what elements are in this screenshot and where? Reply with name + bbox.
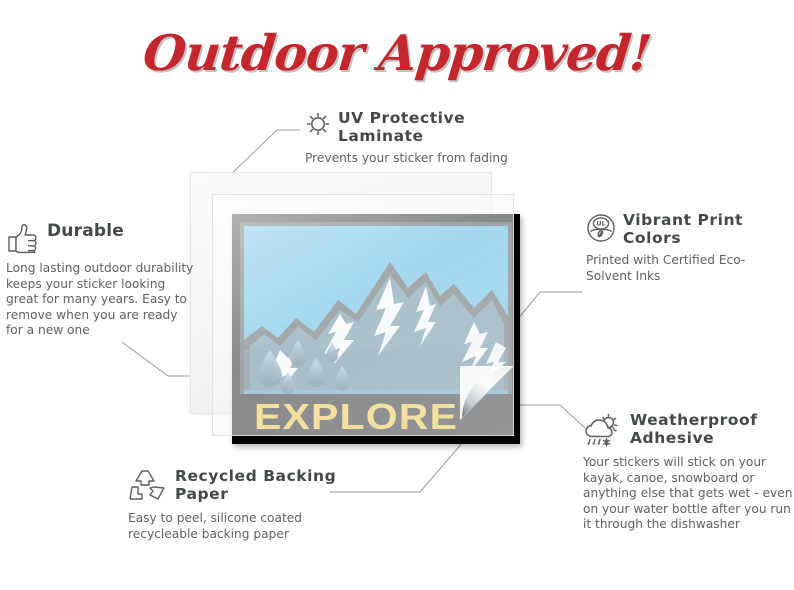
sticker-composition: EXPLORE: [190, 168, 540, 458]
ul-certified-badge-icon: UL: [586, 213, 616, 243]
feature-vibrant-print-colors: UL Vibrant Print Colors Printed with Cer…: [586, 212, 786, 284]
cloud-sun-rain-snow-icon: [583, 413, 623, 449]
feature-heading: Recycled Backing Paper: [175, 468, 348, 503]
feature-weatherproof-adhesive: Weatherproof Adhesive Your stickers will…: [583, 412, 793, 533]
feature-durable: Durable Long lasting outdoor durability …: [6, 222, 196, 339]
recycle-icon: [128, 469, 168, 505]
feature-body: Prevents your sticker from fading: [305, 151, 545, 167]
infographic-canvas: Outdoor Approved!: [0, 0, 794, 590]
peeling-corner: [458, 364, 516, 422]
feature-heading: Durable: [47, 222, 124, 241]
sun-icon: [305, 111, 331, 137]
explore-label: EXPLORE: [254, 398, 458, 436]
feature-heading: Weatherproof Adhesive: [630, 412, 793, 447]
feature-uv-protective-laminate: UV Protective Laminate Prevents your sti…: [305, 110, 545, 167]
thumbs-up-icon: [6, 223, 40, 255]
feature-recycled-backing-paper: Recycled Backing Paper Easy to peel, sil…: [128, 468, 348, 542]
feature-body: Easy to peel, silicone coated recycleabl…: [128, 511, 348, 542]
feature-body: Printed with Certified Eco-Solvent Inks: [586, 253, 786, 284]
feature-heading: Vibrant Print Colors: [623, 212, 786, 247]
feature-body: Your stickers will stick on your kayak, …: [583, 455, 793, 533]
svg-text:UL: UL: [596, 220, 605, 228]
feature-heading: UV Protective Laminate: [338, 110, 545, 145]
feature-body: Long lasting outdoor durability keeps yo…: [6, 261, 196, 339]
